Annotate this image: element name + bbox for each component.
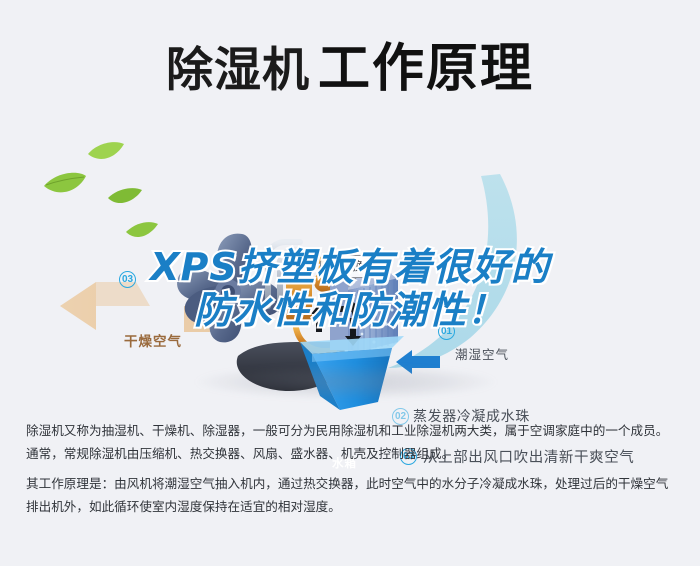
floor-shadow — [196, 365, 496, 399]
badge-02-heat-exchanger: 02 — [299, 256, 316, 273]
page-title-part-a: 除湿机 — [166, 43, 310, 98]
article-paragraph-2: 其工作原理是：由风机将潮湿空气抽入机内，通过热交换器，此时空气中的水分子冷凝成水… — [26, 473, 678, 518]
leaf-icon — [44, 142, 158, 237]
page-title-part-b: 工作原理 — [318, 39, 534, 99]
article-body: 除湿机又称为抽湿机、干燥机、除湿器，一般可分为民用除湿机和工业除湿机两大类，属于… — [26, 420, 678, 526]
article-paragraph-1: 除湿机又称为抽湿机、干燥机、除湿器，一般可分为民用除湿机和工业除湿机两大类，属于… — [26, 420, 678, 465]
badge-01-humid-air: 01 — [438, 323, 455, 340]
callout-heat-exchanger: 热交换器 — [320, 255, 384, 278]
dehumidifier-diagram: 03 干燥空气 02 热交换器 01 潮湿空气 水箱 02 蒸发器冷凝成水珠 0… — [0, 110, 700, 410]
label-humid-air: 潮湿空气 — [455, 344, 509, 363]
page-title: 除湿机工作原理 — [0, 26, 700, 101]
label-dry-air: 干燥空气 — [124, 330, 182, 350]
badge-03-dry-air: 03 — [119, 271, 136, 288]
page-root: 除湿机工作原理 — [0, 0, 700, 566]
